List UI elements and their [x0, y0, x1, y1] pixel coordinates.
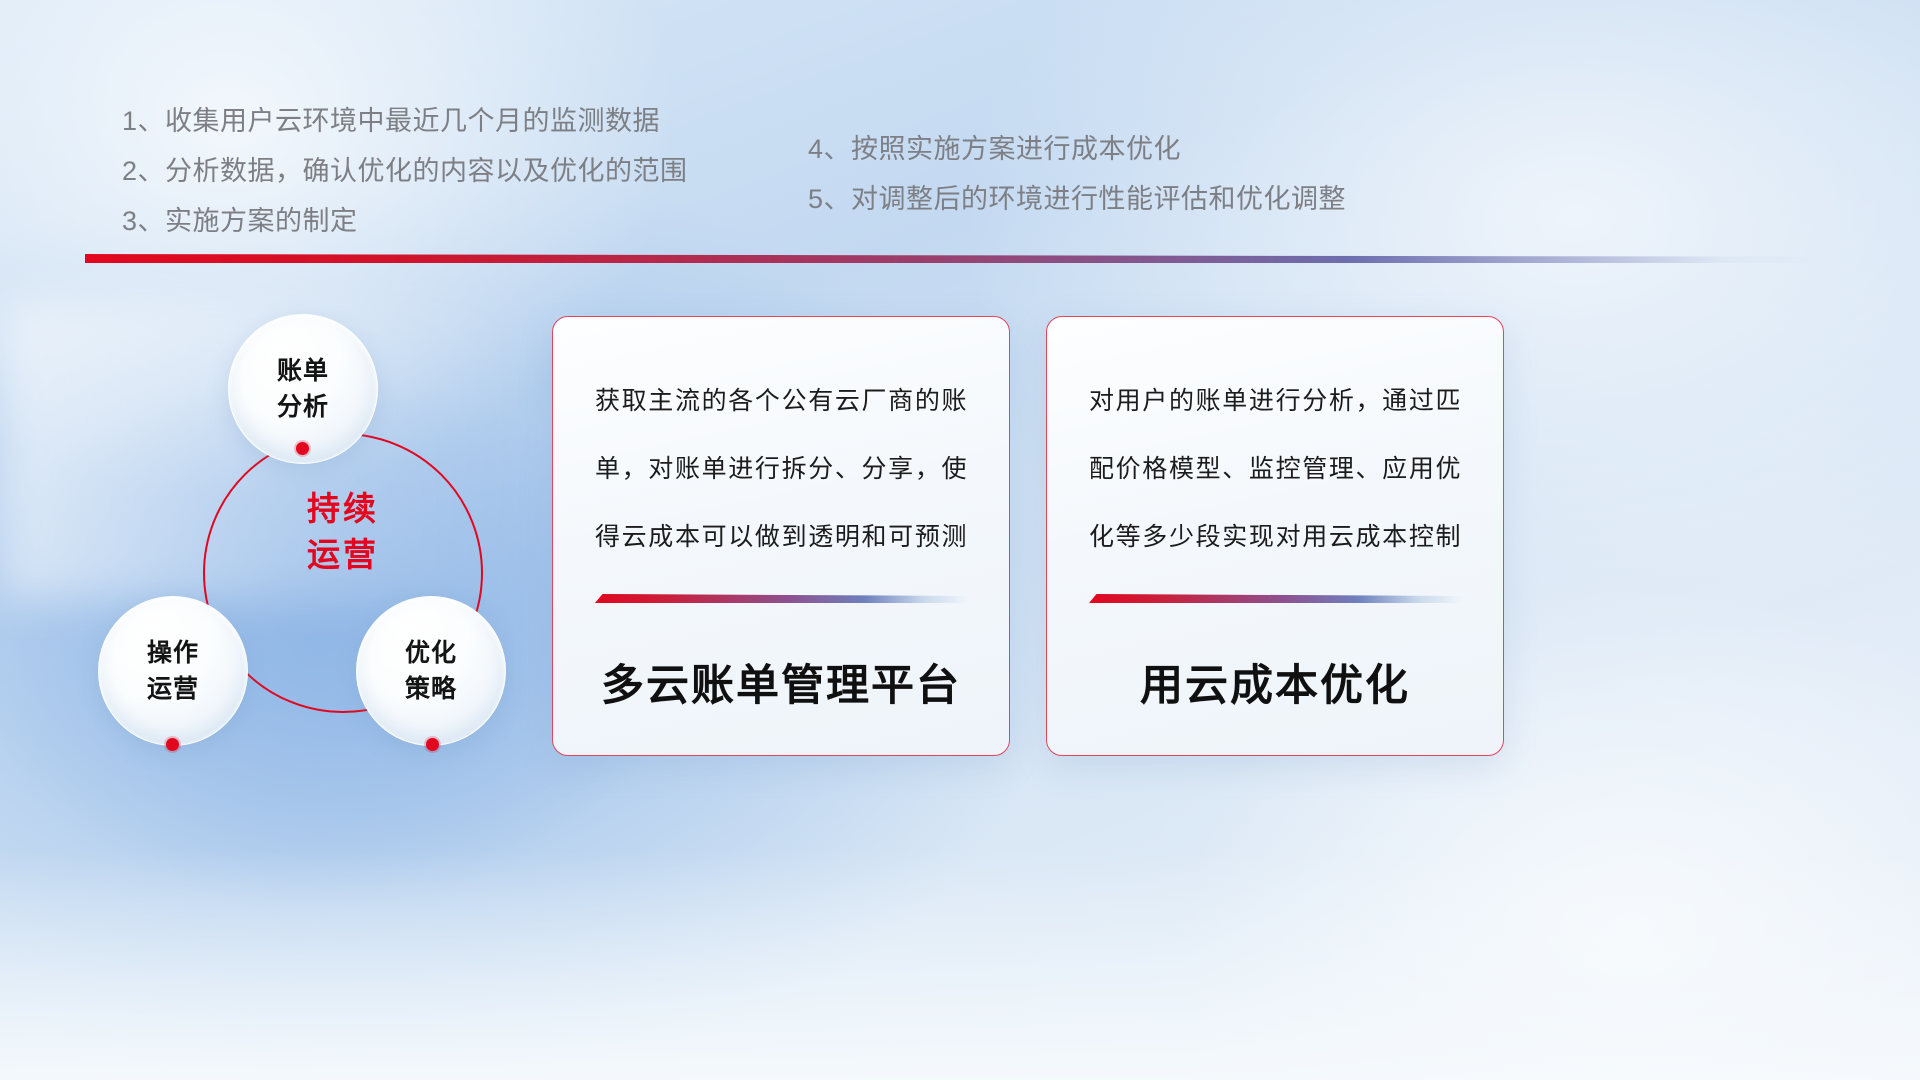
card-cloud-cost-optimization[interactable]: 对用户的账单进行分析，通过匹配价格模型、监控管理、应用优化等多少段实现对用云成本…: [1046, 316, 1504, 756]
card-multicloud-billing-platform[interactable]: 获取主流的各个公有云厂商的账单，对账单进行拆分、分享，使得云成本可以做到透明和可…: [552, 316, 1010, 756]
bubble-line-2: 分析: [277, 393, 329, 421]
bubble-line-1: 优化: [405, 639, 457, 667]
bubble-line-1: 账单: [277, 357, 329, 385]
step-item-5: 5、对调整后的环境进行性能评估和优化调整: [808, 174, 1346, 224]
card-body-text: 对用户的账单进行分析，通过匹配价格模型、监控管理、应用优化等多少段实现对用云成本…: [1089, 367, 1461, 571]
step-item-2: 2、分析数据，确认优化的内容以及优化的范围: [122, 146, 688, 196]
steps-list-right: 4、按照实施方案进行成本优化 5、对调整后的环境进行性能评估和优化调整: [808, 124, 1346, 224]
card-title: 用云成本优化: [1047, 651, 1503, 713]
background-bottom-fade: [0, 850, 1920, 1080]
step-item-3: 3、实施方案的制定: [122, 196, 688, 246]
bubble-label-bill-analysis: 账单 分析: [277, 353, 329, 425]
bubble-line-1: 操作: [147, 639, 199, 667]
continuous-operation-diagram: 账单 分析 操作 运营 优化 策略 持续 运营: [88, 296, 538, 766]
bubble-label-operations: 操作 运营: [147, 635, 199, 707]
step-item-4: 4、按照实施方案进行成本优化: [808, 124, 1346, 174]
diagram-node-dot-top: [296, 442, 309, 455]
bubble-line-2: 运营: [147, 675, 199, 703]
diagram-node-dot-bottom-left: [166, 738, 179, 751]
diagram-bubble-operations[interactable]: 操作 运营: [98, 596, 248, 746]
diagram-node-dot-bottom-right: [426, 738, 439, 751]
card-divider-rule: [1089, 594, 1463, 603]
card-title: 多云账单管理平台: [553, 651, 1009, 713]
steps-list-left: 1、收集用户云环境中最近几个月的监测数据 2、分析数据，确认优化的内容以及优化的…: [122, 96, 688, 246]
step-item-1: 1、收集用户云环境中最近几个月的监测数据: [122, 96, 688, 146]
center-label-line-1: 持续: [307, 490, 379, 527]
diagram-center-label: 持续 运营: [203, 486, 483, 578]
bubble-line-2: 策略: [405, 675, 457, 703]
card-body-text: 获取主流的各个公有云厂商的账单，对账单进行拆分、分享，使得云成本可以做到透明和可…: [595, 367, 967, 571]
diagram-bubble-optimization-strategy[interactable]: 优化 策略: [356, 596, 506, 746]
center-label-line-2: 运营: [307, 536, 379, 573]
card-divider-rule: [595, 594, 969, 603]
bubble-label-optimization-strategy: 优化 策略: [405, 635, 457, 707]
